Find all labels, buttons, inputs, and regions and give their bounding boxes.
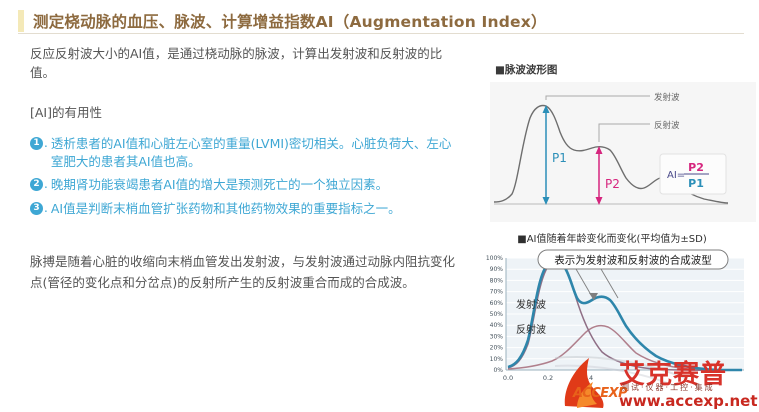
svg-text:100%: 100% — [486, 255, 503, 262]
title-divider — [18, 33, 744, 34]
emitted-wave-label: 发射波 — [654, 92, 680, 103]
svg-text:60%: 60% — [490, 300, 504, 307]
list-item-label: 透析患者的AI值和心脏左心室的重量(LVMI)密切相关。心脏负荷大、左心室肥大的… — [51, 135, 460, 170]
reflected-wave-inline-label: 反射波 — [516, 323, 546, 336]
ai-formula-box: AI= P2 P1 — [660, 154, 726, 194]
svg-text:40%: 40% — [490, 322, 504, 329]
svg-text:20%: 20% — [490, 345, 504, 352]
p1-label: P1 — [552, 151, 567, 165]
top-figure-caption: ■脉波波形图 — [495, 62, 756, 77]
closing-paragraph: 脉搏是随着心脏的收缩向末梢血管发出发射波，与发射波通过动脉内阻抗变化点(管径的变… — [30, 251, 460, 293]
section-subheading: [AI]的有用性 — [30, 102, 460, 121]
reflected-wave-label: 反射波 — [654, 120, 680, 131]
list-item: 3 . AI值是判断末梢血管扩张药物和其他药物效果的重要指标之一。 — [30, 200, 460, 218]
list-item-separator-icon: . — [44, 135, 48, 152]
svg-text:0%: 0% — [493, 367, 503, 374]
ai-formula-numerator: P2 — [688, 161, 704, 174]
svg-text:0.4: 0.4 — [583, 374, 593, 382]
composite-callout-text: 表示为发射波和反射波的合成波型 — [554, 254, 712, 267]
svg-text:30%: 30% — [490, 333, 504, 340]
list-item-label: 晚期肾功能衰竭患者AI值的增大是预测死亡的一个独立因素。 — [51, 176, 388, 194]
svg-text:0.0: 0.0 — [503, 374, 513, 382]
list-item-label: AI值是判断末梢血管扩张药物和其他药物效果的重要指标之一。 — [51, 200, 401, 218]
benefit-list: 1 . 透析患者的AI值和心脏左心室的重量(LVMI)密切相关。心脏负荷大、左心… — [30, 135, 460, 217]
figure-column: ■脉波波形图 P1 P2 — [468, 62, 756, 398]
ai-formula-lhs: AI= — [667, 170, 685, 181]
list-item: 1 . 透析患者的AI值和心脏左心室的重量(LVMI)密切相关。心脏负荷大、左心… — [30, 135, 460, 170]
article-body: 反应反射波大小的AI值，是通过桡动脉的脉波，计算出发射波和反射波的比值。 [AI… — [30, 40, 460, 293]
emitted-wave-inline-label: 发射波 — [516, 298, 546, 311]
pulse-waveform-figure: P1 P2 发射波 反射波 AI= P2 — [490, 82, 756, 222]
list-item-number: 1 — [30, 137, 43, 150]
composite-wave-figure: 100% 90% 80% 70% 60% 50% 40% 30% 20% 10%… — [468, 248, 756, 398]
p2-label: P2 — [605, 177, 620, 191]
list-item-separator-icon: . — [44, 200, 48, 217]
composite-wave-chart: 100% 90% 80% 70% 60% 50% 40% 30% 20% 10%… — [468, 248, 756, 398]
list-item-separator-icon: . — [44, 176, 48, 193]
list-item-number: 3 — [30, 202, 43, 215]
page-title-row: 测定桡动脉的血压、脉波、计算增益指数AI（Augmentation Index） — [18, 8, 743, 34]
svg-text:0.2: 0.2 — [543, 374, 553, 382]
mid-caption-wrap: ■AI值随着年龄变化而变化(平均值为±SD) — [468, 230, 756, 244]
svg-text:70%: 70% — [490, 289, 504, 296]
list-item-number: 2 — [30, 178, 43, 191]
svg-text:50%: 50% — [490, 311, 504, 318]
pulse-waveform-chart: P1 P2 发射波 反射波 AI= P2 — [490, 82, 756, 222]
svg-text:90%: 90% — [490, 266, 504, 273]
svg-text:10%: 10% — [490, 356, 504, 363]
list-item: 2 . 晚期肾功能衰竭患者AI值的增大是预测死亡的一个独立因素。 — [30, 176, 460, 194]
ai-formula-denominator: P1 — [688, 177, 704, 190]
intro-paragraph: 反应反射波大小的AI值，是通过桡动脉的脉波，计算出发射波和反射波的比值。 — [30, 44, 460, 82]
svg-text:80%: 80% — [490, 277, 504, 284]
title-accent-bar — [18, 10, 24, 32]
page-title: 测定桡动脉的血压、脉波、计算增益指数AI（Augmentation Index） — [33, 10, 547, 32]
ai-age-caption: ■AI值随着年龄变化而变化(平均值为±SD) — [468, 230, 756, 245]
